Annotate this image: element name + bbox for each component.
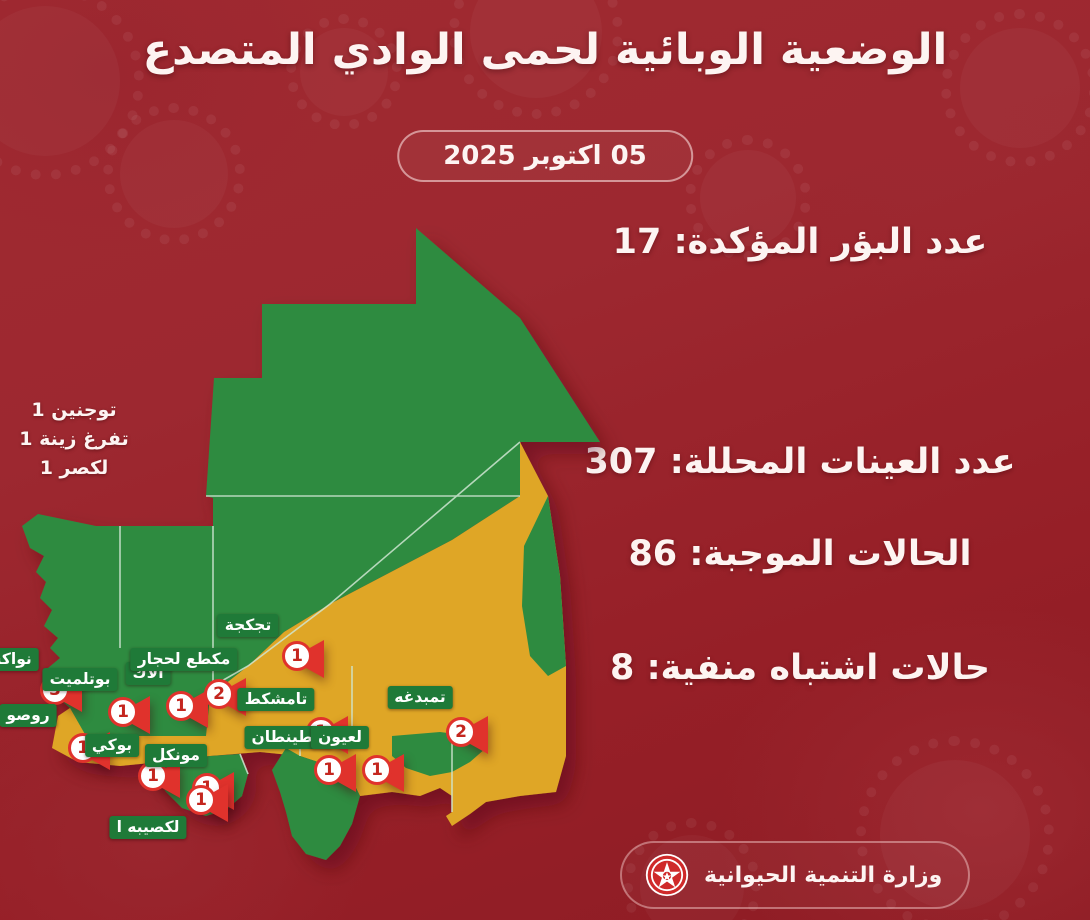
stat-label: عدد العينات المحللة: [670,442,1016,482]
site-label: مونكل [145,744,207,767]
pin-count: 1 [166,691,196,721]
site-label: تمبدغه [387,686,452,709]
pin-count: 1 [362,755,392,785]
site-label: روصو [0,704,57,727]
stat-label: الحالات الموجبة: [689,534,971,574]
site-label: تجكجة [218,614,279,637]
site-label: لكصيبه ا [110,816,187,839]
map-pin[interactable]: 2 [446,714,498,758]
site-label: مكطع لحجار [131,648,238,671]
date-badge: 05 اكتوبر 2025 [397,130,693,182]
infographic-poster: الوضعية الوبائية لحمى الوادي المتصدع 05 … [0,0,1090,920]
pin-count: 1 [108,697,138,727]
site-label: بوتلميت [43,668,118,691]
mauritania-map: نواكشوط 3 تجكجة 1 بوتلميت 1 ألاك [0,196,630,886]
pin-count: 1 [186,785,216,815]
map-pin[interactable]: 1 [314,752,366,796]
site-label: بوكي [85,734,139,757]
ministry-emblem-icon [644,852,690,898]
ministry-name: وزارة التنمية الحيوانية [704,863,942,888]
stat-label: حالات اشتباه منفية: [647,648,990,688]
pin-count: 1 [314,755,344,785]
site-label: لعيون [311,726,369,749]
footer-ministry-badge: وزارة التنمية الحيوانية [620,841,970,909]
pin-count: 2 [204,679,234,709]
map-pin[interactable]: 1 [186,782,238,826]
stat-label: عدد البؤر المؤكدة: [674,222,988,262]
pin-count: 1 [282,641,312,671]
site-label: نواكشوط [0,648,39,671]
page-title: الوضعية الوبائية لحمى الوادي المتصدع [0,24,1090,76]
pin-count: 2 [446,717,476,747]
stat-value: 86 [628,534,677,574]
map-pin[interactable]: 1 [362,752,414,796]
site-label: تامشكط [238,688,315,711]
map-pin[interactable]: 1 [282,638,334,682]
